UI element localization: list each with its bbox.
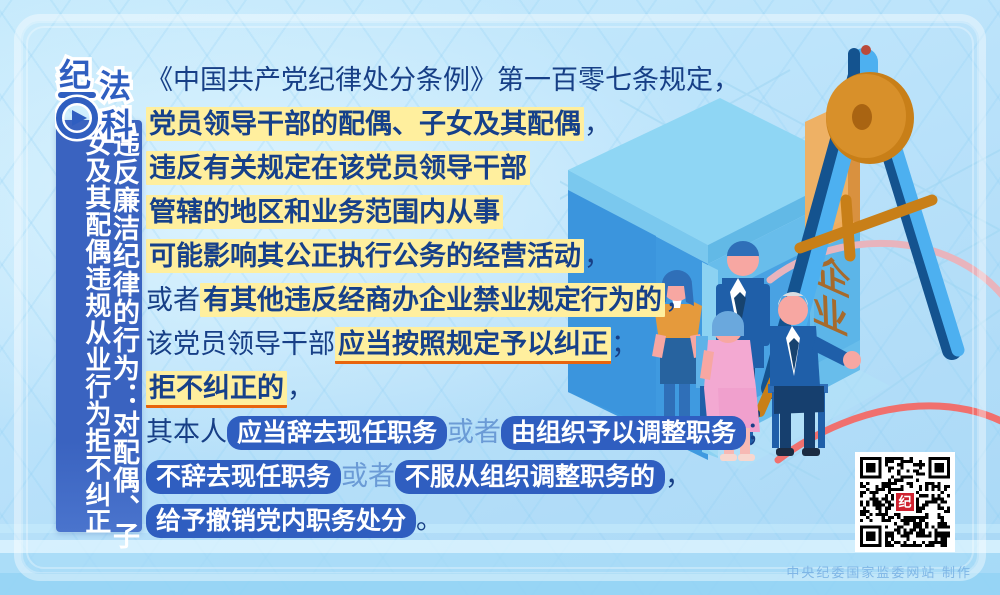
text-run: 该党员领导干部 bbox=[146, 329, 335, 359]
article-line: 其本人应当辞去现任职务或者由组织予以调整职务； bbox=[146, 410, 766, 454]
svg-text:法: 法 bbox=[99, 68, 131, 104]
text-run: 或者 bbox=[146, 285, 200, 315]
highlight-phrase: 应当按照规定予以纠正 bbox=[335, 327, 611, 364]
vertical-title-banner: 违反廉洁纪律的行为：对配偶、子 女及其配偶违规从业行为拒不纠正 bbox=[56, 120, 142, 532]
text-run: ； bbox=[746, 417, 773, 447]
text-run: ， bbox=[584, 109, 611, 139]
svg-text:科: 科 bbox=[101, 107, 133, 143]
highlight-phrase: 拒不纠正的 bbox=[146, 371, 287, 408]
article-line: 不辞去现任职务或者不服从组织调整职务的， bbox=[146, 454, 766, 498]
article-line: 该党员领导干部应当按照规定予以纠正； bbox=[146, 322, 766, 366]
emphasis-pill: 不服从组织调整职务的 bbox=[395, 460, 665, 494]
vertical-title-line-right: 违反廉洁纪律的行为：对配偶、子 bbox=[110, 130, 138, 550]
qr-code[interactable]: 纪 bbox=[855, 452, 955, 552]
text-run: ， bbox=[665, 461, 692, 491]
highlight-phrase: 可能影响其公正执行公务的经营活动 bbox=[146, 239, 584, 273]
footer-credit: 中央纪委国家监委网站 制作 bbox=[786, 562, 972, 581]
highlight-phrase: 管辖的地区和业务范围内从事 bbox=[146, 195, 503, 229]
text-run: 或者 bbox=[341, 461, 395, 491]
article-line: 给予撤销党内职务处分。 bbox=[146, 498, 766, 542]
emphasis-pill: 给予撤销党内职务处分 bbox=[146, 504, 416, 538]
highlight-phrase: 党员领导干部的配偶、子女及其配偶 bbox=[146, 107, 584, 141]
text-run: ， bbox=[287, 373, 314, 403]
text-run: ， bbox=[665, 285, 692, 315]
poster-canvas: 企 业 bbox=[0, 0, 1000, 595]
emphasis-pill: 不辞去现任职务 bbox=[146, 460, 341, 494]
article-line: 或者有其他违反经商办企业禁业规定行为的， bbox=[146, 278, 766, 322]
svg-text:纪: 纪 bbox=[59, 57, 91, 93]
highlight-phrase: 违反有关规定在该党员领导干部 bbox=[146, 151, 530, 185]
article-line: 党员领导干部的配偶、子女及其配偶， bbox=[146, 102, 766, 146]
text-run: 其本人 bbox=[146, 417, 227, 447]
text-run: ； bbox=[611, 329, 638, 359]
article-line: 拒不纠正的， bbox=[146, 366, 766, 410]
article-line: 可能影响其公正执行公务的经营活动， bbox=[146, 234, 766, 278]
vertical-title-line-left: 女及其配偶违规从业行为拒不纠正 bbox=[83, 130, 110, 535]
article-line: 违反有关规定在该党员领导干部 bbox=[146, 146, 766, 190]
article-text: 《中国共产党纪律处分条例》第一百零七条规定，党员领导干部的配偶、子女及其配偶，违… bbox=[146, 58, 766, 542]
brand-logo: 纪 法 科 bbox=[55, 52, 143, 144]
emphasis-pill: 由组织予以调整职务 bbox=[501, 416, 746, 450]
text-run: 《中国共产党纪律处分条例》第一百零七条规定， bbox=[146, 65, 740, 95]
text-run: 或者 bbox=[447, 417, 501, 447]
article-line: 管辖的地区和业务范围内从事 bbox=[146, 190, 766, 234]
text-run: ， bbox=[584, 241, 611, 271]
play-icon bbox=[58, 92, 96, 136]
svg-text:纪: 纪 bbox=[898, 495, 911, 510]
emphasis-pill: 应当辞去现任职务 bbox=[227, 416, 447, 450]
text-run: 。 bbox=[416, 505, 443, 535]
article-line: 《中国共产党纪律处分条例》第一百零七条规定， bbox=[146, 58, 766, 102]
highlight-phrase: 有其他违反经商办企业禁业规定行为的 bbox=[200, 283, 665, 317]
